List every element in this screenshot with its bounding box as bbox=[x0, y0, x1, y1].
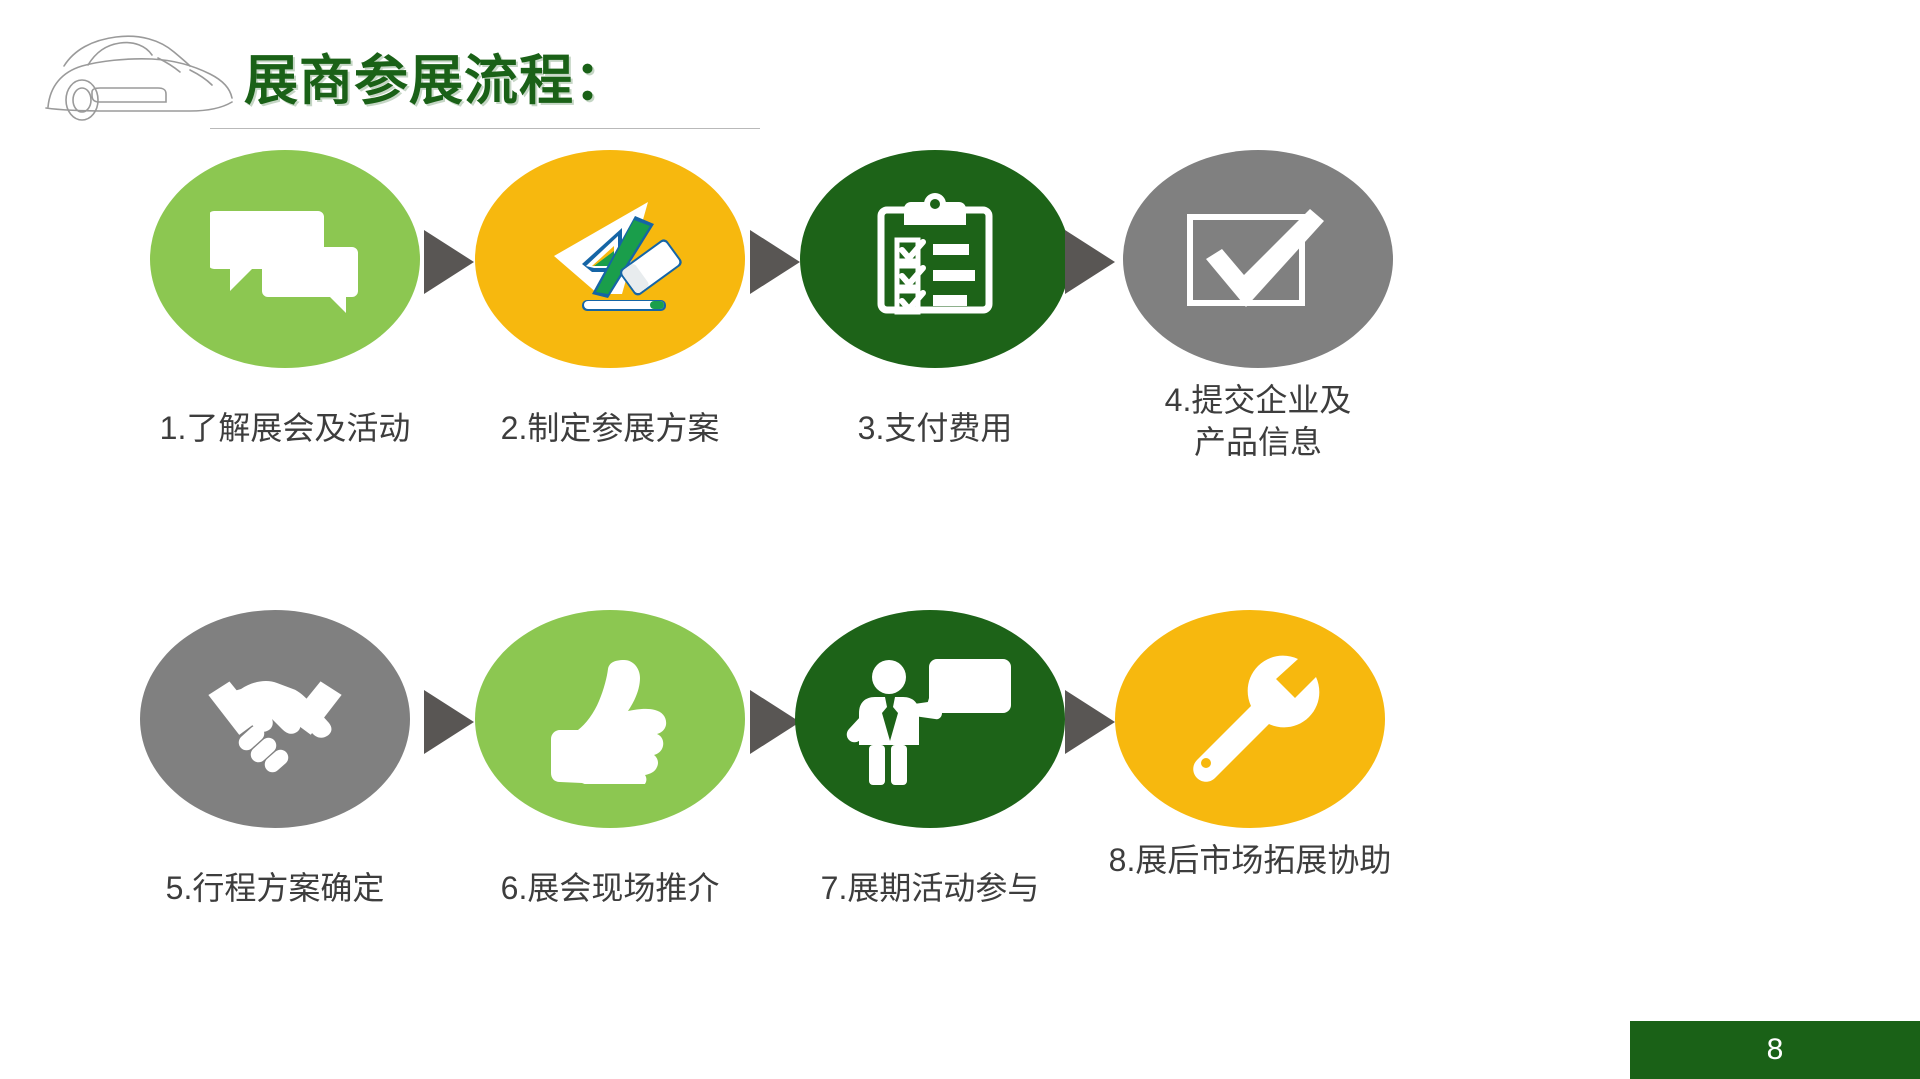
flow-step-4[interactable]: 4.提交企业及 产品信息 bbox=[1108, 150, 1408, 463]
title-underline bbox=[210, 128, 760, 129]
flow-step-5-label: 5.行程方案确定 bbox=[125, 868, 425, 910]
presenter-board-icon bbox=[845, 653, 1015, 785]
flow-step-2[interactable]: 2.制定参展方案 bbox=[460, 150, 760, 450]
flow-step-7[interactable]: 7.展期活动参与 bbox=[780, 610, 1080, 910]
flow-step-1-bubble bbox=[150, 150, 420, 368]
flow-step-8-bubble bbox=[1115, 610, 1385, 828]
drafting-tools-icon bbox=[530, 194, 690, 324]
checked-box-icon bbox=[1184, 203, 1332, 315]
flow-step-7-label: 7.展期活动参与 bbox=[780, 868, 1080, 910]
flow-step-6-bubble bbox=[475, 610, 745, 828]
flow-step-4-bubble bbox=[1123, 150, 1393, 368]
process-flow: 1.了解展会及活动 bbox=[0, 150, 1920, 1070]
page-number: 8 bbox=[1630, 1021, 1920, 1079]
slide-header: 展商参展流程： bbox=[0, 0, 1920, 150]
page-title: 展商参展流程： bbox=[244, 36, 629, 115]
flow-step-8[interactable]: 8.展后市场拓展协助 bbox=[1100, 610, 1400, 882]
flow-step-6-label: 6.展会现场推介 bbox=[460, 868, 760, 910]
speech-bubbles-icon bbox=[210, 205, 360, 313]
flow-step-5[interactable]: 5.行程方案确定 bbox=[125, 610, 425, 910]
flow-step-3-label: 3.支付费用 bbox=[785, 408, 1085, 450]
flow-step-1-label: 1.了解展会及活动 bbox=[135, 408, 435, 450]
clipboard-checklist-icon bbox=[871, 192, 999, 326]
flow-step-2-bubble bbox=[475, 150, 745, 368]
flow-step-3-bubble bbox=[800, 150, 1070, 368]
flow-step-2-label: 2.制定参展方案 bbox=[460, 408, 760, 450]
flow-step-8-label: 8.展后市场拓展协助 bbox=[1100, 840, 1400, 882]
flow-row-2: 5.行程方案确定 6.展会现场推介 bbox=[0, 610, 1920, 1070]
flow-step-5-bubble bbox=[140, 610, 410, 828]
flow-step-6[interactable]: 6.展会现场推介 bbox=[460, 610, 760, 910]
wrench-icon bbox=[1180, 649, 1320, 789]
flow-step-1[interactable]: 1.了解展会及活动 bbox=[135, 150, 435, 450]
thumbs-up-icon bbox=[540, 654, 680, 784]
flow-step-7-bubble bbox=[795, 610, 1065, 828]
flow-step-3[interactable]: 3.支付费用 bbox=[785, 150, 1085, 450]
car-outline-icon bbox=[40, 22, 240, 127]
flow-row-1: 1.了解展会及活动 bbox=[0, 150, 1920, 610]
handshake-icon bbox=[197, 663, 353, 775]
flow-step-4-label: 4.提交企业及 产品信息 bbox=[1108, 380, 1408, 463]
